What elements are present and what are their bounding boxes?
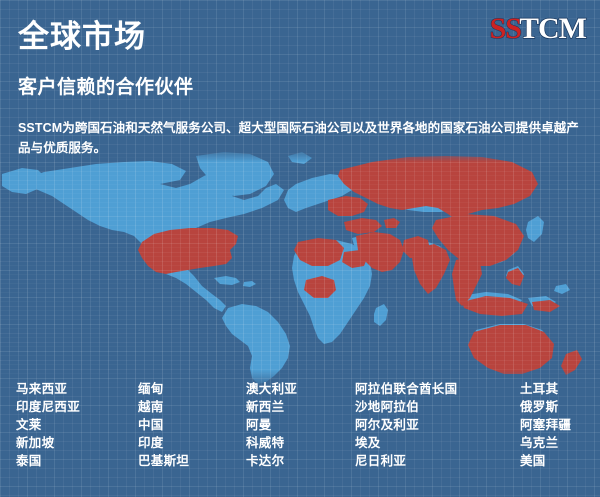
country-column-2: 缅甸 越南 中国 印度 巴基斯坦 [138,380,189,470]
list-item: 中国 [138,416,189,434]
country-column-4: 阿拉伯联合酋长国 沙地阿拉伯 阿尔及利亚 埃及 尼日利亚 [355,380,457,470]
list-item: 阿塞拜疆 [520,416,571,434]
list-item: 俄罗斯 [520,398,571,416]
list-item: 乌克兰 [520,434,571,452]
list-item: 澳大利亚 [246,380,297,398]
list-item: 美国 [520,452,571,470]
list-item: 越南 [138,398,189,416]
page-description: SSTCM为跨国石油和天然气服务公司、超大型国际石油公司以及世界各地的国家石油公… [18,118,588,158]
list-item: 文莱 [16,416,80,434]
global-market-banner: 全球市场 客户信赖的合作伙伴 SSTCM为跨国石油和天然气服务公司、超大型国际石… [0,0,600,497]
list-item: 马来西亚 [16,380,80,398]
list-item: 阿曼 [246,416,297,434]
list-item: 土耳其 [520,380,571,398]
list-item: 泰国 [16,452,80,470]
list-item: 新加坡 [16,434,80,452]
page-subtitle: 客户信赖的合作伙伴 [18,78,194,99]
map-highlight-grid [0,148,600,388]
list-item: 新西兰 [246,398,297,416]
list-item: 印度尼西亚 [16,398,80,416]
list-item: 巴基斯坦 [138,452,189,470]
page-title: 全球市场 [18,20,146,54]
sstcm-logo[interactable]: SS TCM [490,14,586,44]
list-item: 卡达尔 [246,452,297,470]
list-item: 阿拉伯联合酋长国 [355,380,457,398]
country-column-3: 澳大利亚 新西兰 阿曼 科威特 卡达尔 [246,380,297,470]
list-item: 尼日利亚 [355,452,457,470]
list-item: 阿尔及利亚 [355,416,457,434]
list-item: 沙地阿拉伯 [355,398,457,416]
list-item: 科威特 [246,434,297,452]
list-item: 埃及 [355,434,457,452]
logo-text-tcm: TCM [519,14,586,44]
logo-text-ss: SS [490,14,521,44]
list-item: 缅甸 [138,380,189,398]
list-item: 印度 [138,434,189,452]
world-map [0,148,600,388]
country-column-1: 马来西亚 印度尼西亚 文莱 新加坡 泰国 [16,380,80,470]
country-list: 马来西亚 印度尼西亚 文莱 新加坡 泰国 缅甸 越南 中国 印度 巴基斯坦 澳大… [0,380,600,497]
country-column-5: 土耳其 俄罗斯 阿塞拜疆 乌克兰 美国 [520,380,571,470]
world-map-svg [0,148,600,388]
